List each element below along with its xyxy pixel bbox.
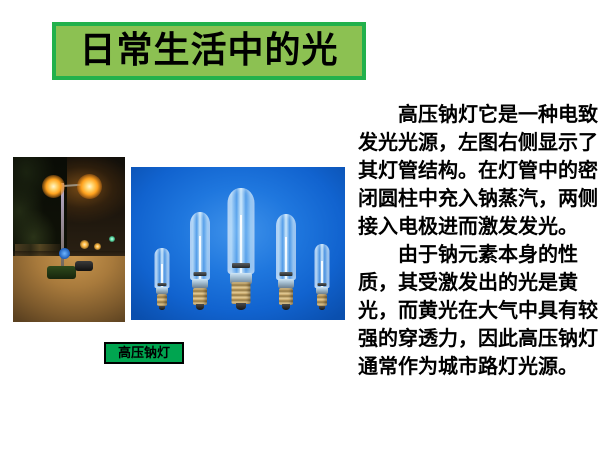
bulb-base-tip <box>319 306 325 310</box>
bulb-screw-base <box>279 288 293 305</box>
night-street-photo <box>13 157 125 322</box>
distant-lamp-glow-2 <box>94 243 101 250</box>
roadside-hedge <box>47 266 76 279</box>
blue-road-sign <box>59 248 70 259</box>
lamp-pole <box>61 183 63 275</box>
distant-lamp-glow-1 <box>80 240 89 249</box>
street-lamp-glow-right <box>77 174 102 199</box>
bulb-inner-band <box>194 272 207 276</box>
sodium-bulb-4 <box>269 212 303 310</box>
bulb-collar <box>192 279 208 288</box>
bulb-inner-band <box>158 283 167 286</box>
sodium-bulb-3 <box>219 182 263 310</box>
sodium-bulb-1 <box>149 248 175 310</box>
body-text-block: 高压钠灯它是一种电致发光光源，左图右侧显示了其灯管结构。在灯管中的密闭圆柱中充入… <box>358 100 598 380</box>
image-caption-box: 高压钠灯 <box>104 342 184 364</box>
bulb-screw-base <box>193 288 207 305</box>
sodium-lamp-bulbs-photo <box>131 167 345 320</box>
bulb-base-tip <box>236 303 246 310</box>
bulb-screw-base <box>232 282 251 304</box>
body-paragraph-2: 由于钠元素本身的性质，其受激发出的光是黄光，而黄光在大气中具有较强的穿透力，因此… <box>358 240 598 380</box>
slide-title-box: 日常生活中的光 <box>52 22 366 80</box>
bulb-base-tip <box>159 306 165 310</box>
bulb-screw-base <box>157 294 167 306</box>
page-title: 日常生活中的光 <box>79 33 338 69</box>
bulb-screw-base <box>317 294 327 306</box>
sodium-bulb-2 <box>183 210 217 310</box>
sodium-bulb-5 <box>309 244 335 310</box>
bulb-collar <box>316 287 328 294</box>
bulb-collar <box>278 279 294 288</box>
bulb-inner-band <box>318 283 327 286</box>
bulb-base-tip <box>196 304 204 310</box>
bulb-base-tip <box>282 304 290 310</box>
bulb-inner-band <box>232 263 250 268</box>
parked-car <box>75 261 93 271</box>
bulb-inner-band <box>280 272 293 276</box>
body-paragraph-1: 高压钠灯它是一种电致发光光源，左图右侧显示了其灯管结构。在灯管中的密闭圆柱中充入… <box>358 100 598 240</box>
bulb-collar <box>156 287 168 294</box>
image-caption-label: 高压钠灯 <box>118 347 170 360</box>
